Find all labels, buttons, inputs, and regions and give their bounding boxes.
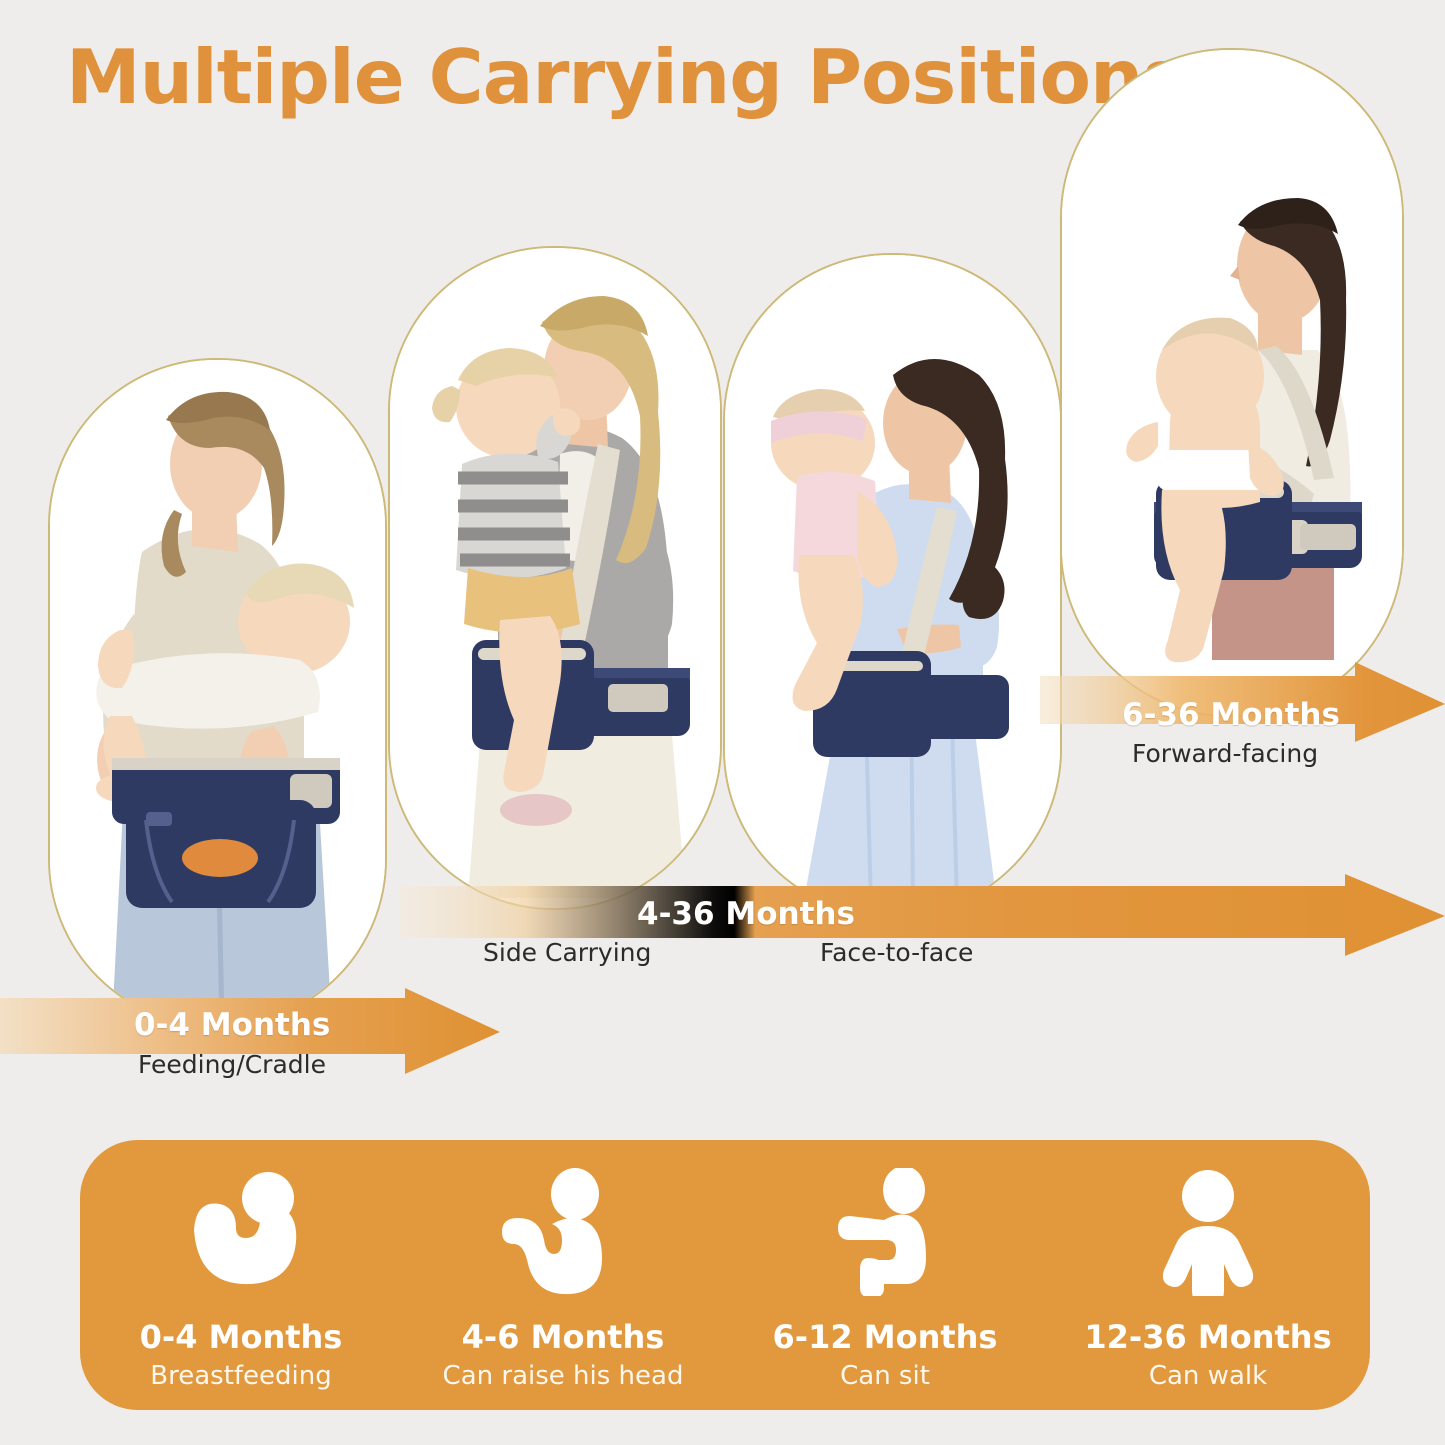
milestone-title: 0-4 Months	[140, 1318, 343, 1356]
photo-panel-face-to-face	[723, 253, 1062, 917]
infographic-canvas: Multiple Carrying Positions	[0, 0, 1445, 1445]
milestone-subtitle: Can raise his head	[443, 1361, 684, 1391]
baby-sitting-icon	[820, 1168, 950, 1296]
arrow-side-carrying-subtitle: Side Carrying	[483, 938, 651, 967]
feeding-cradle-photo	[50, 360, 385, 1025]
milestone-subtitle: Can walk	[1149, 1361, 1267, 1391]
milestone-title: 6-12 Months	[773, 1318, 998, 1356]
milestone-item-4-6-months: 4-6 Months Can raise his head	[402, 1140, 724, 1410]
side-carrying-photo	[390, 248, 720, 908]
photo-panel-forward-facing	[1060, 48, 1404, 717]
forward-facing-photo	[1062, 50, 1402, 715]
arrow-feeding-cradle-title: 0-4 Months	[134, 1007, 330, 1043]
milestone-item-6-12-months: 6-12 Months Can sit	[724, 1140, 1046, 1410]
arrow-forward-facing-title: 6-36 Months	[1122, 697, 1340, 733]
arrow-face-to-face-subtitle: Face-to-face	[820, 938, 973, 967]
milestone-subtitle: Breastfeeding	[150, 1361, 331, 1391]
arrow-feeding-cradle-subtitle: Feeding/Cradle	[138, 1050, 326, 1079]
baby-raise-head-icon	[498, 1168, 628, 1296]
baby-lying-icon	[176, 1168, 306, 1296]
milestones-bar: 0-4 Months Breastfeeding 4-6 Months Can …	[80, 1140, 1370, 1410]
milestone-item-0-4-months: 0-4 Months Breastfeeding	[80, 1140, 402, 1410]
milestone-title: 12-36 Months	[1084, 1318, 1331, 1356]
photo-panel-feeding-cradle	[48, 358, 387, 1027]
milestone-title: 4-6 Months	[462, 1318, 665, 1356]
baby-standing-icon	[1143, 1168, 1273, 1296]
face-to-face-photo	[725, 255, 1060, 915]
arrow-forward-facing-subtitle: Forward-facing	[1132, 739, 1318, 768]
photo-panel-side-carrying	[388, 246, 722, 910]
milestone-item-12-36-months: 12-36 Months Can walk	[1046, 1140, 1370, 1410]
arrow-4-36-months-title: 4-36 Months	[637, 896, 855, 932]
page-title: Multiple Carrying Positions	[66, 36, 1186, 118]
milestone-subtitle: Can sit	[840, 1361, 930, 1391]
